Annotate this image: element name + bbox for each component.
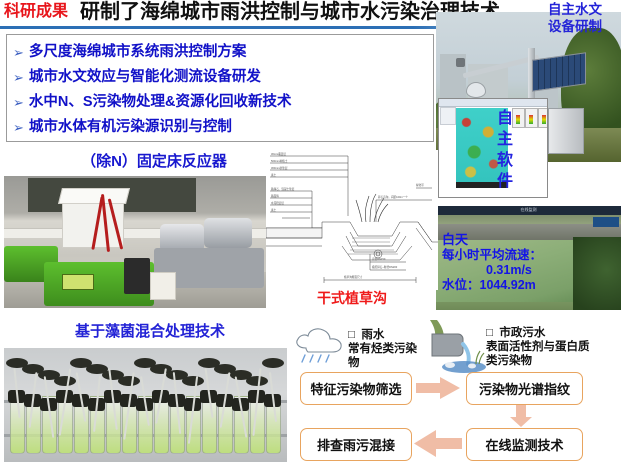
svg-text:路缘石、混凝土垫层: 路缘石、混凝土垫层 xyxy=(271,187,295,191)
list-item: ➢ 水中N、S污染物处理&资源化回收新技术 xyxy=(13,90,427,115)
list-item-label: 城市水文效应与智能化测流设备研发 xyxy=(29,65,261,90)
equipment-cabinet xyxy=(548,108,584,154)
flow-step-3[interactable]: 在线监测技术 xyxy=(466,428,583,461)
black-module xyxy=(124,258,150,294)
software-label-char: 软 xyxy=(494,150,516,171)
svg-text:素土: 素土 xyxy=(271,173,277,177)
arrow-left-icon xyxy=(414,430,462,457)
toolbar-panel xyxy=(440,107,456,125)
algae-bacteria-photo xyxy=(4,348,287,462)
svg-text:300mm砂垫层: 300mm砂垫层 xyxy=(271,166,288,170)
svg-text:水泥稳定层: 水泥稳定层 xyxy=(271,201,284,205)
software-label-char: 自 xyxy=(494,108,516,129)
pollution-identification-flowchart: □ 雨水 常有烃类污染物 □ 市政污水 表面活性剂与蛋白质 类污染物 特征污染物… xyxy=(288,320,621,464)
software-label-char: 件 xyxy=(494,171,516,192)
svg-text:30mm覆盖层: 30mm覆盖层 xyxy=(271,152,286,156)
list-item-label: 多尺度海绵城市系统雨洪控制方案 xyxy=(29,40,247,65)
svg-text:素土: 素土 xyxy=(271,208,277,212)
river-monitoring-photo: 在线监测 白天 每小时平均流速： 0.31m/s 水位：1044.92m xyxy=(436,206,621,310)
discharge-pipe-icon xyxy=(424,320,486,374)
culture-tube xyxy=(154,396,169,454)
checkbox-square-icon: □ xyxy=(348,329,355,341)
list-item: ➢ 城市水体有机污染源识别与控制 xyxy=(13,115,427,140)
arrow-right-icon xyxy=(416,377,460,399)
svg-text:碎石盲沟，间距100m一个: 碎石盲沟，间距100m一个 xyxy=(378,195,408,199)
reactor-label: （除N）固定床反应器 xyxy=(34,152,274,172)
chevron-right-icon: ➢ xyxy=(13,115,24,140)
slide-root: 科研成果 研制了海绵城市雨洪控制与城市水污染治理技术 ➢ 多尺度海绵城市系统雨洪… xyxy=(0,0,621,464)
algae-label: 基于藻菌混合处理技术 xyxy=(20,322,280,342)
source-rainwater-detail: 常有烃类污染物 xyxy=(348,342,428,370)
white-module xyxy=(150,272,176,300)
source-sewage-title: □ 市政污水 xyxy=(486,326,621,340)
camera-dome-icon xyxy=(466,82,486,98)
header-tag: 科研成果 xyxy=(4,2,68,22)
video-window-title: 在线监测 xyxy=(521,207,537,213)
tube-clamp xyxy=(118,376,140,386)
tube-clamp xyxy=(182,376,204,386)
svg-text:绿化带: 绿化带 xyxy=(416,183,424,187)
svg-text:植草沟断面尺寸: 植草沟断面尺寸 xyxy=(344,275,363,279)
river-waterlevel-value: 水位：1044.92m xyxy=(442,278,617,293)
pump-display xyxy=(62,274,94,290)
chevron-right-icon: ➢ xyxy=(13,65,24,90)
svg-text:500mm种植土: 500mm种植土 xyxy=(271,159,288,163)
source-rainwater-title: □ 雨水 xyxy=(348,328,428,342)
tube-clamp xyxy=(54,376,76,386)
station-label-line2: 设备研制 xyxy=(548,18,620,35)
source-sewage-label: 市政污水 xyxy=(499,327,545,339)
tube-clamp xyxy=(262,358,284,368)
flow-step-2[interactable]: 污染物光谱指纹 xyxy=(466,372,583,405)
list-item-label: 水中N、S污染物处理&资源化回收新技术 xyxy=(29,90,292,115)
river-data-overlay: 白天 每小时平均流速： 0.31m/s 水位：1044.92m xyxy=(442,232,617,293)
fixed-bed-reactor-photo xyxy=(4,176,266,308)
source-sewage-detail-1: 表面活性剂与蛋白质 xyxy=(486,340,621,354)
video-overlay-badge xyxy=(593,217,619,227)
river-daytime-label: 白天 xyxy=(442,232,617,248)
window-titlebar xyxy=(439,99,547,107)
station-label-line1: 自主水文 xyxy=(548,1,620,18)
source-sewage: □ 市政污水 表面活性剂与蛋白质 类污染物 xyxy=(486,326,621,368)
software-label-char: 主 xyxy=(494,129,516,150)
video-window-titlebar: 在线监测 xyxy=(436,206,621,215)
sensor-head-icon xyxy=(456,58,465,67)
enclosure-lid xyxy=(58,188,130,204)
river-velocity-value: 0.31m/s xyxy=(442,263,617,278)
svg-text:盲管DN150: 盲管DN150 xyxy=(372,257,386,261)
rain-cloud-icon xyxy=(292,326,348,366)
list-item-label: 城市水体有机污染源识别与控制 xyxy=(29,115,232,140)
flow-step-1[interactable]: 特征污染物筛选 xyxy=(300,372,412,405)
svg-text:路面砖: 路面砖 xyxy=(271,194,279,198)
source-rainwater: □ 雨水 常有烃类污染物 xyxy=(348,328,428,370)
gauge-widget xyxy=(525,108,538,128)
river-velocity-label: 每小时平均流速： xyxy=(442,248,617,263)
reactor-cylinder xyxy=(204,218,252,248)
arrow-down-icon xyxy=(510,405,532,427)
swale-diagram-svg: 30mm覆盖层 500mm种植土 300mm砂垫层 素土 路缘石、混凝土垫层 路… xyxy=(266,150,438,290)
swale-label: 干式植草沟 xyxy=(290,289,414,307)
chevron-right-icon: ➢ xyxy=(13,90,24,115)
checkbox-square-icon: □ xyxy=(486,327,493,339)
source-rainwater-label: 雨水 xyxy=(361,329,384,341)
source-sewage-detail-2: 类污染物 xyxy=(486,354,621,368)
flow-step-4[interactable]: 排查雨污混接 xyxy=(300,428,412,461)
list-item: ➢ 城市水文效应与智能化测流设备研发 xyxy=(13,65,427,90)
gauge-widget xyxy=(538,108,548,128)
software-label: 自 主 软 件 xyxy=(494,108,516,192)
achievements-list: ➢ 多尺度海绵城市系统雨洪控制方案 ➢ 城市水文效应与智能化测流设备研发 ➢ 水… xyxy=(6,34,434,142)
list-item: ➢ 多尺度海绵城市系统雨洪控制方案 xyxy=(13,40,427,65)
chevron-right-icon: ➢ xyxy=(13,40,24,65)
station-label: 自主水文 设备研制 xyxy=(548,1,620,35)
software-screenshot xyxy=(438,98,548,198)
dry-grass-swale-cross-section: 30mm覆盖层 500mm种植土 300mm砂垫层 素土 路缘石、混凝土垫层 路… xyxy=(266,150,438,290)
svg-text:级配碎石~粒径DN200: 级配碎石~粒径DN200 xyxy=(372,265,398,269)
